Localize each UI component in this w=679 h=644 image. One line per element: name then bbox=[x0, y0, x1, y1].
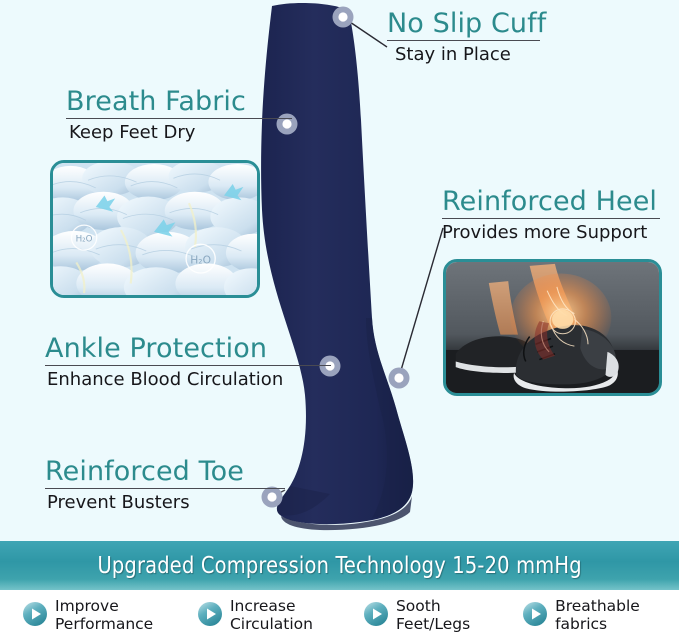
feature-label: Breathable fabrics bbox=[555, 598, 673, 634]
play-circle-icon bbox=[22, 601, 48, 627]
h2o-label: H₂O bbox=[76, 234, 93, 244]
heel-support-photo bbox=[443, 259, 662, 396]
callout-rule bbox=[45, 365, 331, 366]
callout-subtitle: Stay in Place bbox=[395, 44, 546, 66]
fabric-closeup-photo: H₂O H₂O bbox=[50, 160, 260, 298]
product-infographic: No Slip Cuff Stay in Place Breath Fabric… bbox=[0, 0, 679, 644]
play-circle-icon bbox=[522, 601, 548, 627]
feature-label: Sooth Feet/Legs bbox=[396, 598, 512, 634]
h2o-label: H₂O bbox=[190, 255, 211, 267]
callout-title: Reinforced Toe bbox=[45, 458, 285, 487]
feature-item: Breathable fabrics bbox=[522, 598, 679, 634]
feature-strip: Improve Performance Increase Circulation bbox=[0, 590, 679, 644]
callout-breath-fabric: Breath Fabric Keep Feet Dry bbox=[66, 88, 292, 143]
callout-rule bbox=[442, 218, 660, 219]
callout-subtitle: Provides more Support bbox=[442, 222, 660, 244]
callout-title: No Slip Cuff bbox=[387, 10, 546, 39]
callout-reinforced-heel: Reinforced Heel Provides more Support bbox=[442, 188, 660, 243]
callout-title: Ankle Protection bbox=[45, 335, 331, 364]
callout-title: Breath Fabric bbox=[66, 88, 292, 117]
compression-banner: Upgraded Compression Technology 15-20 mm… bbox=[0, 541, 679, 590]
banner-text: Upgraded Compression Technology 15-20 mm… bbox=[97, 553, 581, 579]
marker-no-slip-cuff bbox=[333, 7, 354, 28]
feature-label: Increase Circulation bbox=[230, 598, 348, 634]
callout-subtitle: Keep Feet Dry bbox=[69, 122, 292, 144]
callout-rule bbox=[45, 488, 285, 489]
callout-subtitle: Prevent Busters bbox=[47, 492, 285, 514]
feature-item: Improve Performance bbox=[22, 598, 179, 634]
feature-label: Improve Performance bbox=[55, 598, 173, 634]
callout-ankle-protection: Ankle Protection Enhance Blood Circulati… bbox=[45, 335, 331, 390]
connector-reinforced-heel bbox=[399, 228, 443, 377]
callout-reinforced-toe: Reinforced Toe Prevent Busters bbox=[45, 458, 285, 513]
feature-item: Sooth Feet/Legs bbox=[363, 598, 512, 634]
marker-reinforced-heel bbox=[389, 368, 410, 389]
callout-title: Reinforced Heel bbox=[442, 188, 660, 217]
play-circle-icon bbox=[197, 601, 223, 627]
play-circle-icon bbox=[363, 601, 389, 627]
callout-no-slip-cuff: No Slip Cuff Stay in Place bbox=[387, 10, 546, 65]
runner-heel-graphic bbox=[446, 262, 659, 393]
feature-item: Increase Circulation bbox=[197, 598, 349, 634]
fabric-fiber-graphic: H₂O H₂O bbox=[53, 163, 257, 295]
callout-rule bbox=[387, 40, 540, 41]
callout-subtitle: Enhance Blood Circulation bbox=[47, 369, 331, 391]
callout-rule bbox=[66, 118, 292, 119]
